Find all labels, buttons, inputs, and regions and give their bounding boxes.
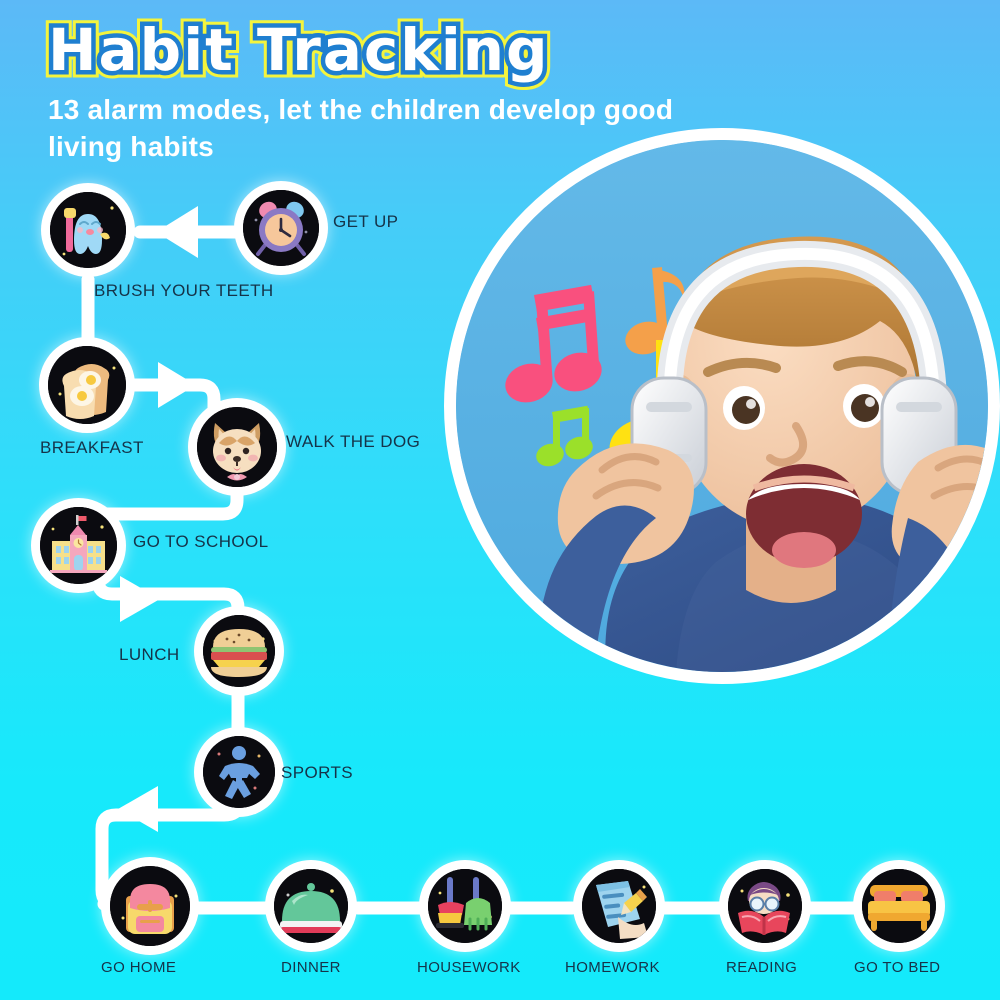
node-homework[interactable] [582,869,656,943]
bed-icon [862,869,936,943]
label-go-to-school: GO TO SCHOOL [133,532,268,552]
node-lunch[interactable] [203,615,275,687]
node-walk-the-dog[interactable] [197,407,277,487]
label-brush-your-teeth: BRUSH YOUR TEETH [94,281,274,301]
alarm-clock-icon [243,190,319,266]
burger-icon [203,615,275,687]
arrowhead-left-top [156,206,198,258]
node-brush-your-teeth[interactable] [50,192,126,268]
node-breakfast[interactable] [48,346,126,424]
dog-icon [197,407,277,487]
node-housework[interactable] [428,869,502,943]
label-reading: READING [726,959,797,976]
node-reading[interactable] [728,869,802,943]
food-cloche-icon [274,869,348,943]
arrowhead-left-sports [118,786,158,832]
school-building-icon [40,507,117,584]
label-go-to-bed: GO TO BED [854,959,940,976]
child-reading-book-icon [728,869,802,943]
arrowhead-right-school [120,576,160,622]
node-go-to-bed[interactable] [862,869,936,943]
node-go-home[interactable] [110,866,190,946]
node-get-up[interactable] [243,190,319,266]
running-person-icon [203,736,275,808]
backpack-icon [110,866,190,946]
label-walk-the-dog: WALK THE DOG [286,432,420,452]
tooth-brush-icon [50,192,126,268]
label-get-up: GET UP [333,212,398,232]
label-housework: HOUSEWORK [417,959,521,976]
broom-dustpan-icon [428,869,502,943]
arrowhead-right-breakfast [158,362,196,408]
toast-egg-icon [48,346,126,424]
label-go-home: GO HOME [101,959,176,976]
notebook-pencil-icon [582,869,656,943]
node-sports[interactable] [203,736,275,808]
label-dinner: DINNER [281,959,341,976]
label-homework: HOMEWORK [565,959,660,976]
poster-canvas: Habit Tracking Habit Tracking Habit Trac… [0,0,1000,1000]
node-go-to-school[interactable] [40,507,117,584]
label-lunch: LUNCH [119,645,180,665]
label-sports: SPORTS [281,763,353,783]
label-breakfast: BREAKFAST [40,438,144,458]
connector-school-to-lunch [98,580,238,624]
node-dinner[interactable] [274,869,348,943]
page-subtitle: 13 alarm modes, let the children develop… [48,92,688,166]
